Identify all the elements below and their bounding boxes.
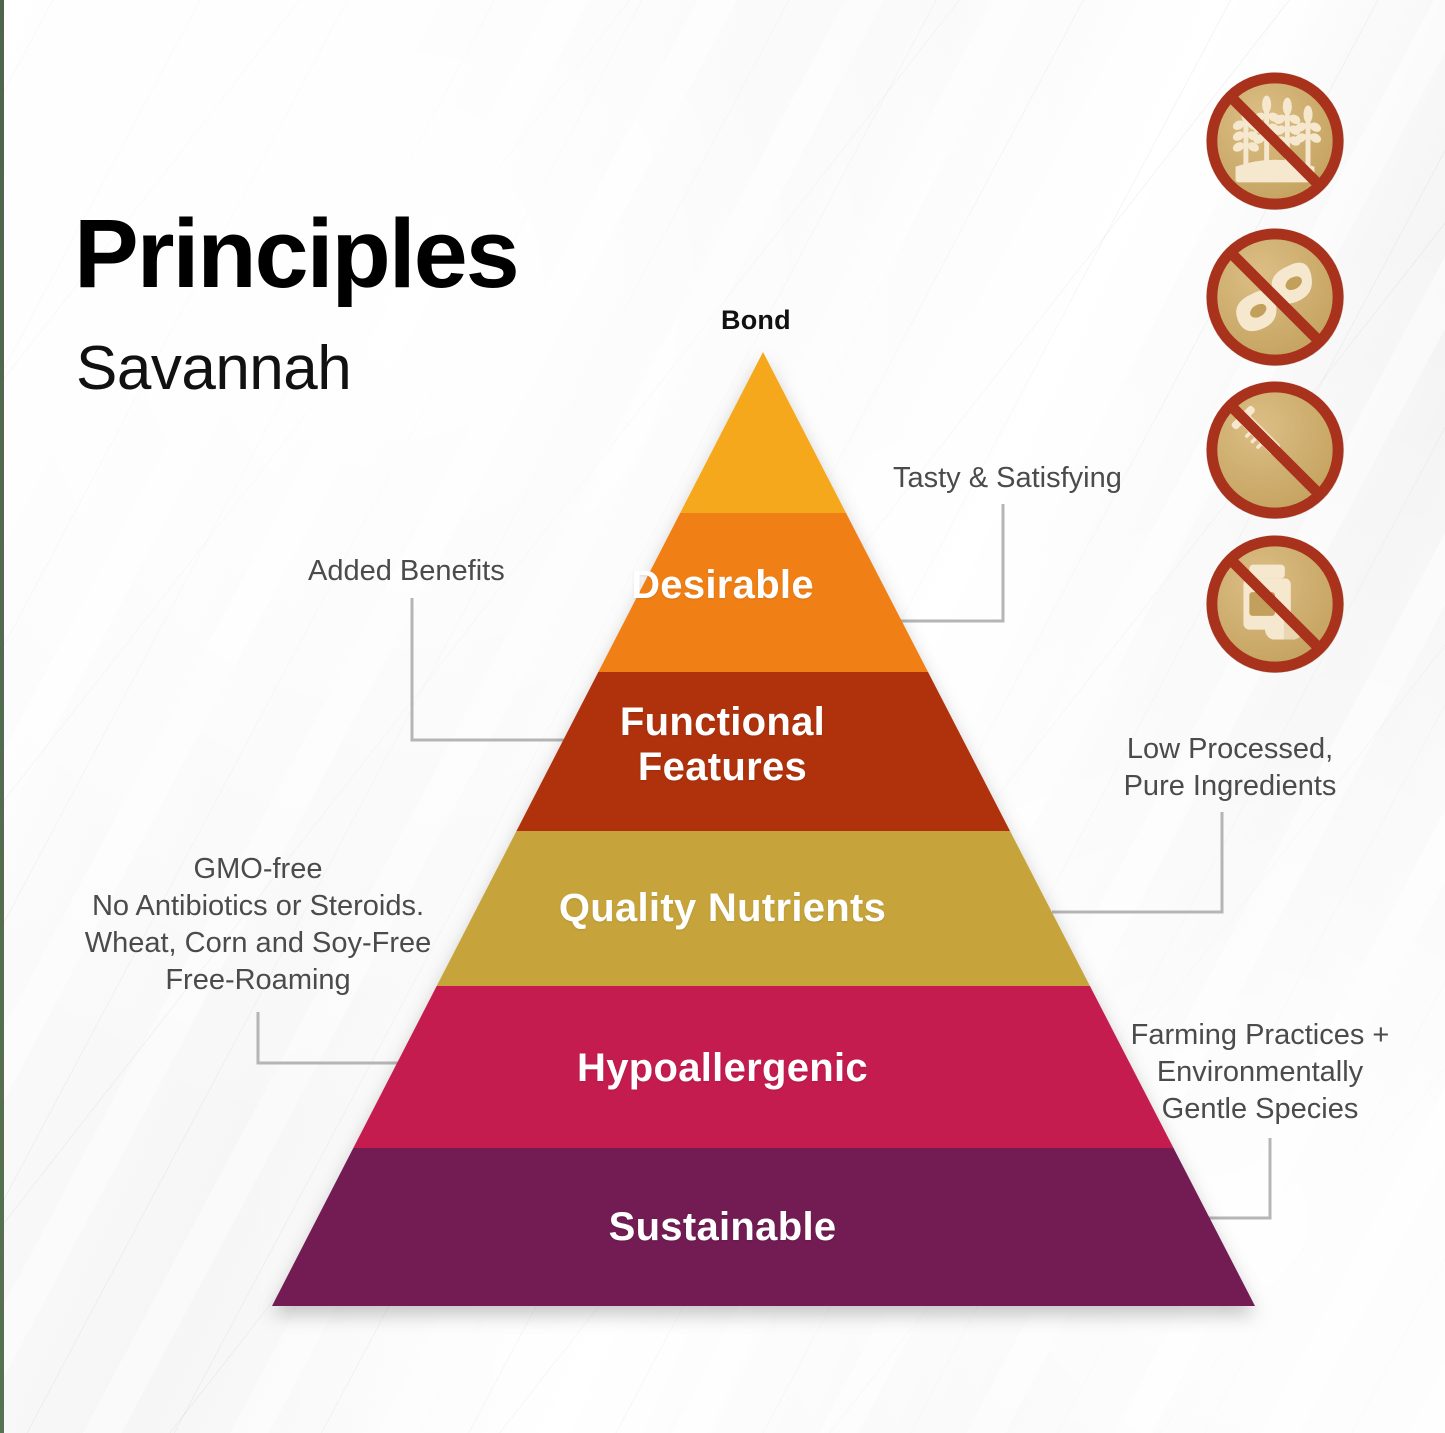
badge-no-grain [1206, 72, 1344, 210]
connector-lines [0, 0, 1445, 1433]
annotation-tasty-satisfying: Tasty & Satisfying [893, 460, 1122, 497]
annotation-gmo-free: GMO-free No Antibiotics or Steroids. Whe… [78, 851, 438, 999]
badge-no-gmo [1206, 228, 1344, 366]
annotation-farming-practices: Farming Practices + Environmentally Gent… [1130, 1017, 1390, 1128]
infographic-canvas: Principles Savannah Bond [0, 0, 1445, 1433]
annotation-added-benefits: Added Benefits [308, 553, 505, 590]
badge-no-hormones [1206, 381, 1344, 519]
badge-no-antibiotics [1206, 535, 1344, 673]
annotation-low-processed: Low Processed, Pure Ingredients [1110, 731, 1350, 805]
